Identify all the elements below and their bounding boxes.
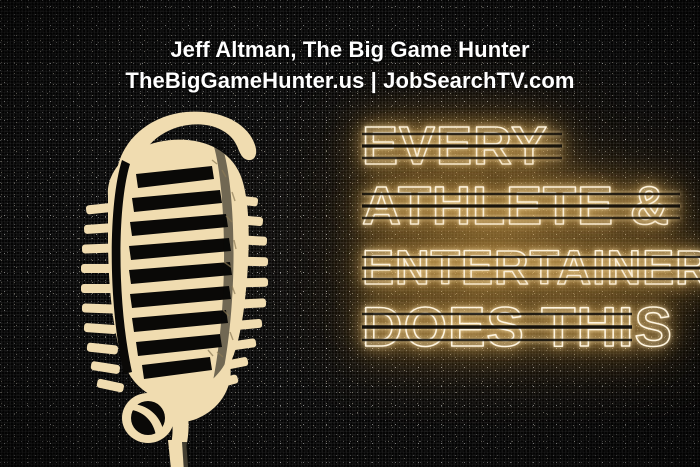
episode-thumbnail: Jeff Altman, The Big Game Hunter TheBigG…: [0, 0, 700, 467]
website-urls: TheBigGameHunter.us | JobSearchTV.com: [0, 67, 700, 96]
neon-line-4: DOES THIS DOES THIS: [362, 292, 700, 362]
neon-line-2: ATHLETE & ATHLETE &: [362, 172, 700, 238]
microphone-svg: [62, 100, 282, 467]
neon-line-4-svg: DOES THIS DOES THIS: [362, 292, 700, 362]
neon-line-3-svg: ENTERTAINER ENTERTAINER: [362, 232, 700, 298]
neon-line-1: EVERY EVERY: [362, 112, 700, 178]
branding-header: Jeff Altman, The Big Game Hunter TheBigG…: [0, 36, 700, 95]
neon-sign: EVERY EVERY ATHLETE & ATHLETE & ENTERTAI…: [362, 112, 700, 362]
presenter-name: Jeff Altman, The Big Game Hunter: [0, 36, 700, 64]
vintage-microphone-illustration: [62, 100, 282, 467]
neon-line-3: ENTERTAINER ENTERTAINER: [362, 232, 700, 298]
neon-line-2-svg: ATHLETE & ATHLETE &: [362, 172, 700, 238]
neon-line-1-svg: EVERY EVERY: [362, 112, 700, 178]
